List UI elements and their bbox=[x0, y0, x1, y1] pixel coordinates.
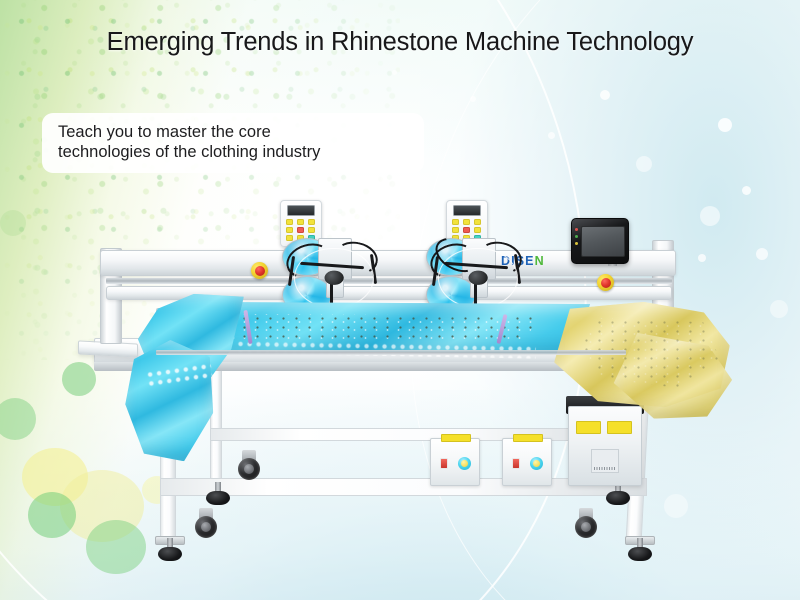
lcd-display bbox=[453, 205, 481, 216]
electrical-cabinet[interactable] bbox=[568, 406, 642, 486]
leveling-foot bbox=[158, 538, 182, 562]
rhinestone-pattern bbox=[212, 314, 542, 342]
bokeh-circle bbox=[770, 300, 788, 318]
control-box-left[interactable] bbox=[430, 438, 480, 486]
bokeh-circle bbox=[548, 132, 555, 139]
key-up[interactable] bbox=[463, 219, 470, 225]
leveling-foot bbox=[206, 482, 230, 506]
control-box-right[interactable] bbox=[502, 438, 552, 486]
bokeh-circle bbox=[392, 70, 397, 75]
leveling-foot bbox=[628, 538, 652, 562]
key-up[interactable] bbox=[297, 219, 304, 225]
wiring-diagram-label bbox=[591, 449, 619, 473]
key-left[interactable] bbox=[452, 227, 459, 233]
key-fn1[interactable] bbox=[286, 219, 293, 225]
rhinestone-machine: DISEN bbox=[60, 190, 750, 590]
emergency-stop-right[interactable] bbox=[597, 274, 614, 291]
caster-wheel bbox=[236, 450, 262, 480]
power-switch[interactable] bbox=[440, 458, 448, 469]
bokeh-circle bbox=[718, 118, 732, 132]
page-title: Emerging Trends in Rhinestone Machine Te… bbox=[0, 28, 800, 57]
key-right[interactable] bbox=[474, 227, 481, 233]
bokeh-circle bbox=[0, 210, 26, 236]
indicator-lamp bbox=[530, 457, 543, 470]
subtitle-line-1: Teach you to master the core bbox=[58, 122, 408, 142]
key-left[interactable] bbox=[286, 227, 293, 233]
hmi-status-leds bbox=[575, 228, 579, 248]
indicator-lamp bbox=[458, 457, 471, 470]
bokeh-circle bbox=[600, 90, 610, 100]
caster-wheel bbox=[193, 508, 219, 538]
key-fn2[interactable] bbox=[308, 219, 315, 225]
caster-wheel bbox=[573, 508, 599, 538]
power-switch[interactable] bbox=[512, 458, 520, 469]
subtitle-line-2: technologies of the clothing industry bbox=[58, 142, 408, 162]
frame-cross-rail-back bbox=[210, 428, 618, 441]
bokeh-circle bbox=[756, 248, 768, 260]
control-box-label bbox=[441, 434, 471, 442]
key-fn2[interactable] bbox=[474, 219, 481, 225]
gantry-rail bbox=[106, 278, 672, 284]
lcd-display bbox=[287, 205, 315, 216]
control-box-label bbox=[513, 434, 543, 442]
subtitle-callout-box: Teach you to master the core technologie… bbox=[42, 113, 424, 173]
key-stop[interactable] bbox=[297, 227, 304, 233]
bokeh-circle bbox=[470, 96, 476, 102]
key-fn1[interactable] bbox=[452, 219, 459, 225]
emergency-stop-left[interactable] bbox=[251, 262, 268, 279]
warning-label bbox=[576, 421, 601, 434]
touchscreen-hmi[interactable] bbox=[571, 218, 629, 264]
hmi-display[interactable] bbox=[581, 226, 625, 257]
key-right[interactable] bbox=[308, 227, 315, 233]
warning-label bbox=[607, 421, 632, 434]
bokeh-circle bbox=[636, 156, 652, 172]
promotional-banner: Emerging Trends in Rhinestone Machine Te… bbox=[0, 0, 800, 600]
key-stop[interactable] bbox=[463, 227, 470, 233]
brand-accent-letter: N bbox=[535, 254, 545, 268]
table-front-rail bbox=[156, 350, 626, 355]
